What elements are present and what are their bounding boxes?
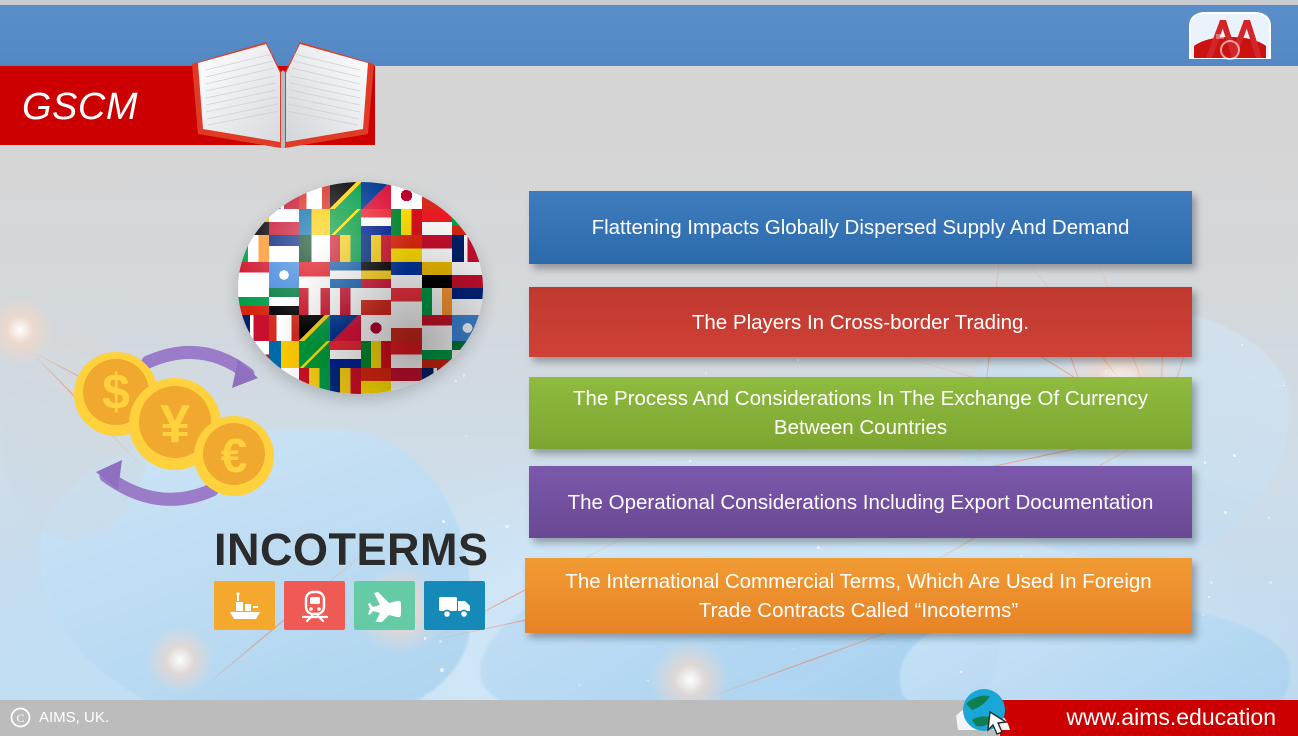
transport-mode-row [214, 581, 485, 630]
topic-box-5-text: The International Commercial Terms, Whic… [543, 567, 1174, 625]
svg-text:$: $ [102, 364, 130, 420]
topic-box-5[interactable]: The International Commercial Terms, Whic… [525, 558, 1192, 633]
website-text: www.aims.education [1066, 704, 1276, 731]
globe-cursor-icon [950, 682, 1016, 736]
topic-box-2[interactable]: The Players In Cross-border Trading. [529, 287, 1192, 357]
topic-box-1[interactable]: Flattening Impacts Globally Dispersed Su… [529, 191, 1192, 264]
euro-coin: € [194, 416, 274, 496]
svg-text:C: C [16, 711, 24, 725]
topic-box-1-text: Flattening Impacts Globally Dispersed Su… [547, 213, 1174, 242]
topic-box-3[interactable]: The Process And Considerations In The Ex… [529, 377, 1192, 449]
incoterms-heading: INCOTERMS [214, 524, 489, 576]
copyright-icon: C [10, 707, 31, 728]
topic-box-4-text: The Operational Considerations Including… [547, 488, 1174, 517]
truck-icon[interactable] [424, 581, 485, 630]
course-title-text: GSCM [22, 85, 138, 129]
copyright-block: C AIMS, UK. [10, 707, 109, 728]
header-top-edge [0, 0, 1298, 5]
copyright-text: AIMS, UK. [39, 709, 109, 726]
topic-box-3-text: The Process And Considerations In The Ex… [547, 384, 1174, 442]
slide-canvas: GSCM [0, 0, 1298, 736]
svg-text:€: € [221, 430, 248, 483]
svg-text:¥: ¥ [160, 394, 190, 454]
aims-monogram-logo [1176, 6, 1284, 64]
topic-box-2-text: The Players In Cross-border Trading. [547, 308, 1174, 337]
train-icon[interactable] [284, 581, 345, 630]
open-book-icon [186, 30, 380, 155]
ship-icon[interactable] [214, 581, 275, 630]
currency-exchange-graphic: $ ¥ € [62, 330, 294, 515]
topic-box-4[interactable]: The Operational Considerations Including… [529, 466, 1192, 538]
airplane-icon[interactable] [354, 581, 415, 630]
